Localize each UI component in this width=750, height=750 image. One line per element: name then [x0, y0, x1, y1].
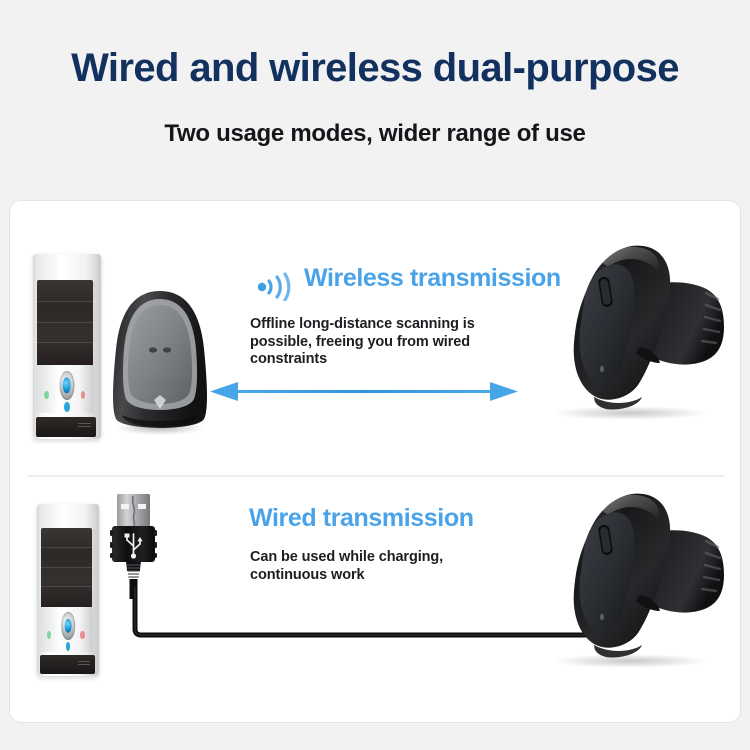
- page-subtitle: Two usage modes, wider range of use: [0, 119, 750, 149]
- barcode-scanner-wired: [522, 479, 740, 669]
- pc-tower-wired: [37, 504, 99, 676]
- cradle-svg: [108, 287, 212, 435]
- pc-tower-wireless: [33, 254, 101, 439]
- tower-top-cap: [40, 504, 96, 530]
- tower-top-cap: [36, 254, 97, 282]
- status-led-red: [80, 631, 84, 639]
- status-led-blue: [64, 402, 69, 412]
- wireless-body-line-3: constraints: [250, 351, 540, 369]
- wireless-transmission-section: Wireless transmission Offline long-dista…: [10, 201, 740, 463]
- tower-bottom-bay: [36, 417, 96, 437]
- tower-bottom-bay: [40, 655, 95, 674]
- charging-cradle: [108, 287, 212, 435]
- double-headed-arrow: [208, 379, 520, 405]
- wired-body-line-2: continuous work: [250, 567, 540, 585]
- power-button-icon: [61, 612, 75, 640]
- wired-section-body: Can be used while charging, continuous w…: [250, 549, 540, 584]
- page-title: Wired and wireless dual-purpose: [0, 44, 750, 92]
- wired-section-title: Wired transmission: [249, 503, 474, 533]
- wireless-section-body: Offline long-distance scanning is possib…: [250, 316, 540, 369]
- wifi-signal-icon: [254, 263, 302, 301]
- wired-transmission-section: Wired transmission Can be used while cha…: [10, 477, 740, 723]
- wireless-body-line-1: Offline long-distance scanning is: [250, 316, 540, 334]
- barcode-scanner-wireless: [522, 231, 740, 421]
- power-button-icon: [60, 371, 75, 401]
- feature-card: Wireless transmission Offline long-dista…: [9, 200, 741, 723]
- header: Wired and wireless dual-purpose Two usag…: [0, 0, 750, 190]
- wired-body-line-1: Can be used while charging,: [250, 549, 540, 567]
- status-led-green: [44, 391, 49, 399]
- usb-connector-icon: [104, 490, 164, 600]
- wireless-body-line-2: possible, freeing you from wired: [250, 334, 540, 352]
- tower-drive-bays: [37, 280, 93, 367]
- tower-drive-bays: [41, 528, 92, 609]
